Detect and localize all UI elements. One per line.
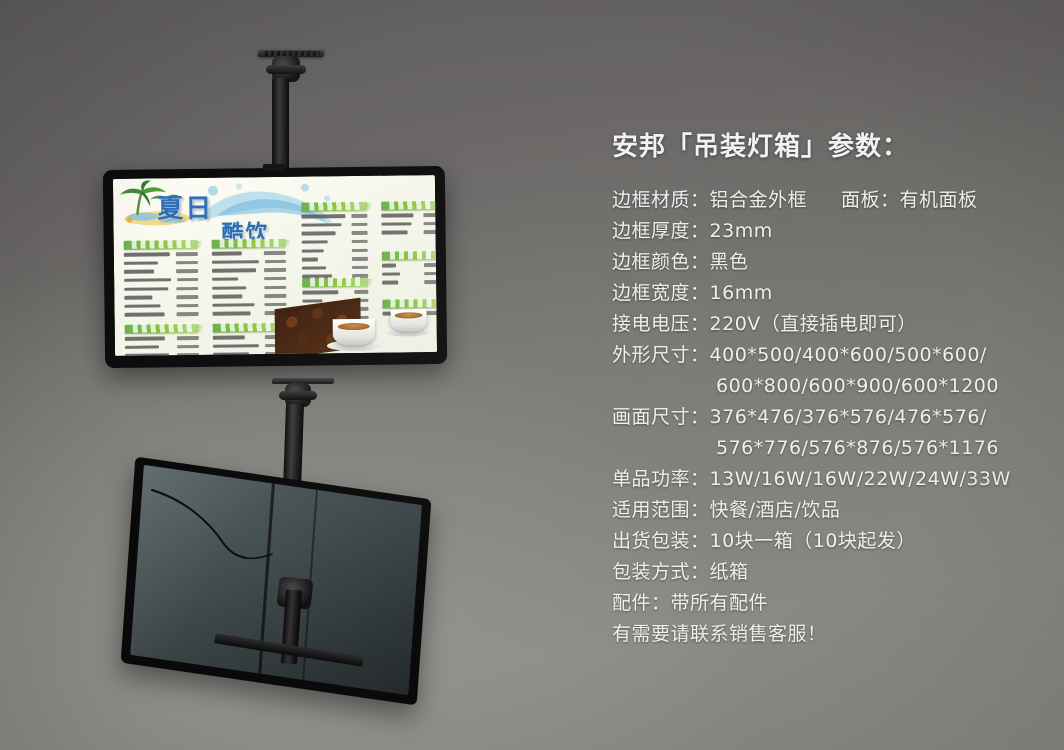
- spec-row-value: 376*476/376*576/476*576/: [710, 406, 987, 428]
- spec-row-value: 600*800/600*900/600*1200: [716, 375, 999, 397]
- spec-row: 边框宽度：16mm: [612, 278, 1052, 309]
- section-header-band: [124, 240, 198, 250]
- spec-row-label: 适用范围：: [612, 499, 710, 521]
- menu-title-primary: 夏日: [157, 188, 213, 226]
- spec-row-label: 外形尺寸：: [612, 344, 710, 366]
- spec-row-value: 220V（直接插电即可）: [710, 313, 917, 335]
- coffee-cup-front: [333, 319, 375, 346]
- spec-row-value: 10块一箱（10块起发）: [710, 530, 916, 552]
- section-header-band: [125, 324, 199, 334]
- spec-row-value: 有需要请联系销售客服！: [612, 623, 827, 645]
- spec-row: 适用范围：快餐/酒店/饮品: [612, 495, 1052, 526]
- spec-row-value: 16mm: [710, 282, 773, 304]
- spec-row: 边框材质：铝合金外框面板：有机面板: [612, 185, 1052, 216]
- section-header-band: [302, 278, 368, 288]
- spec-row-value-secondary: 有机面板: [900, 189, 978, 211]
- spec-row-list: 边框材质：铝合金外框面板：有机面板边框厚度：23mm边框颜色：黑色边框宽度：16…: [612, 185, 1052, 650]
- page-title: 安邦「吊装灯箱」参数：: [612, 126, 1052, 163]
- spec-row-value: 黑色: [710, 251, 749, 273]
- spec-row: 接电电压：220V（直接插电即可）: [612, 309, 1052, 340]
- spec-row: 外形尺寸：400*500/400*600/500*600/: [612, 340, 1052, 371]
- spec-text-block: 安邦「吊装灯箱」参数： 边框材质：铝合金外框面板：有机面板边框厚度：23mm边框…: [612, 126, 1052, 650]
- spec-row-label: 画面尺寸：: [612, 406, 710, 428]
- spec-row: 边框颜色：黑色: [612, 247, 1052, 278]
- panel-sheen: [130, 465, 422, 695]
- spec-row-value: 快餐/酒店/饮品: [710, 499, 841, 521]
- spec-row-label: 边框材质：: [612, 189, 710, 211]
- swivel-knob-icon: [279, 391, 317, 400]
- spec-row-label: 出货包装：: [612, 530, 710, 552]
- spec-row-label: 单品功率：: [612, 468, 710, 490]
- spec-row: 画面尺寸：376*476/376*576/476*576/: [612, 402, 1052, 433]
- section-header-band: [382, 251, 437, 261]
- spec-row-label: 边框颜色：: [612, 251, 710, 273]
- coffee-photo: [274, 290, 437, 354]
- light-box-back-panel: [130, 465, 422, 695]
- spec-row-label: 配件：: [612, 592, 671, 614]
- spec-row-label-secondary: 面板：: [841, 189, 900, 211]
- spec-row-value: 576*776/576*876/576*1176: [716, 437, 999, 459]
- spec-row-value: 23mm: [710, 220, 773, 242]
- menu-section-right-2: [381, 201, 437, 241]
- spec-row-value: 带所有配件: [671, 592, 769, 614]
- spec-row-label: 接电电压：: [612, 313, 710, 335]
- section-header-band: [381, 201, 437, 211]
- menu-section-left-1: [124, 240, 199, 323]
- spec-row: 包装方式：纸箱: [612, 557, 1052, 588]
- light-box-front: 夏日 酷饮: [103, 166, 447, 368]
- menu-artwork: 夏日 酷饮: [113, 175, 437, 356]
- swivel-knob-icon: [266, 65, 306, 74]
- spec-row-value: 13W/16W/16W/22W/24W/33W: [710, 468, 1011, 490]
- spec-row-label: 边框厚度：: [612, 220, 710, 242]
- spec-row-value: 铝合金外框: [710, 189, 808, 211]
- menu-section-right-1: [301, 202, 368, 285]
- section-header-band: [301, 202, 367, 212]
- spec-row-label: 边框宽度：: [612, 282, 710, 304]
- spec-row: 出货包装：10块一箱（10块起发）: [612, 526, 1052, 557]
- spec-row-label: 包装方式：: [612, 561, 710, 583]
- spec-row: 600*800/600*900/600*1200: [612, 371, 1052, 402]
- light-box-bezel: 夏日 酷饮: [113, 175, 437, 356]
- spec-row-value: 400*500/400*600/500*600/: [710, 344, 987, 366]
- menu-section-right-3: [382, 251, 437, 291]
- section-header-band: [212, 239, 286, 249]
- spec-row: 边框厚度：23mm: [612, 216, 1052, 247]
- light-box-rear-frame: [121, 457, 432, 706]
- menu-section-left-3: [125, 324, 200, 356]
- spec-row-value: 纸箱: [710, 561, 749, 583]
- product-spec-image: 夏日 酷饮: [0, 0, 1064, 750]
- spec-row: 有需要请联系销售客服！: [612, 619, 1052, 650]
- coffee-cup-back: [391, 309, 427, 331]
- spec-row: 576*776/576*876/576*1176: [612, 433, 1052, 464]
- panel-top-tab: [263, 164, 285, 171]
- spec-row: 配件：带所有配件: [612, 588, 1052, 619]
- spec-row: 单品功率：13W/16W/16W/22W/24W/33W: [612, 464, 1052, 495]
